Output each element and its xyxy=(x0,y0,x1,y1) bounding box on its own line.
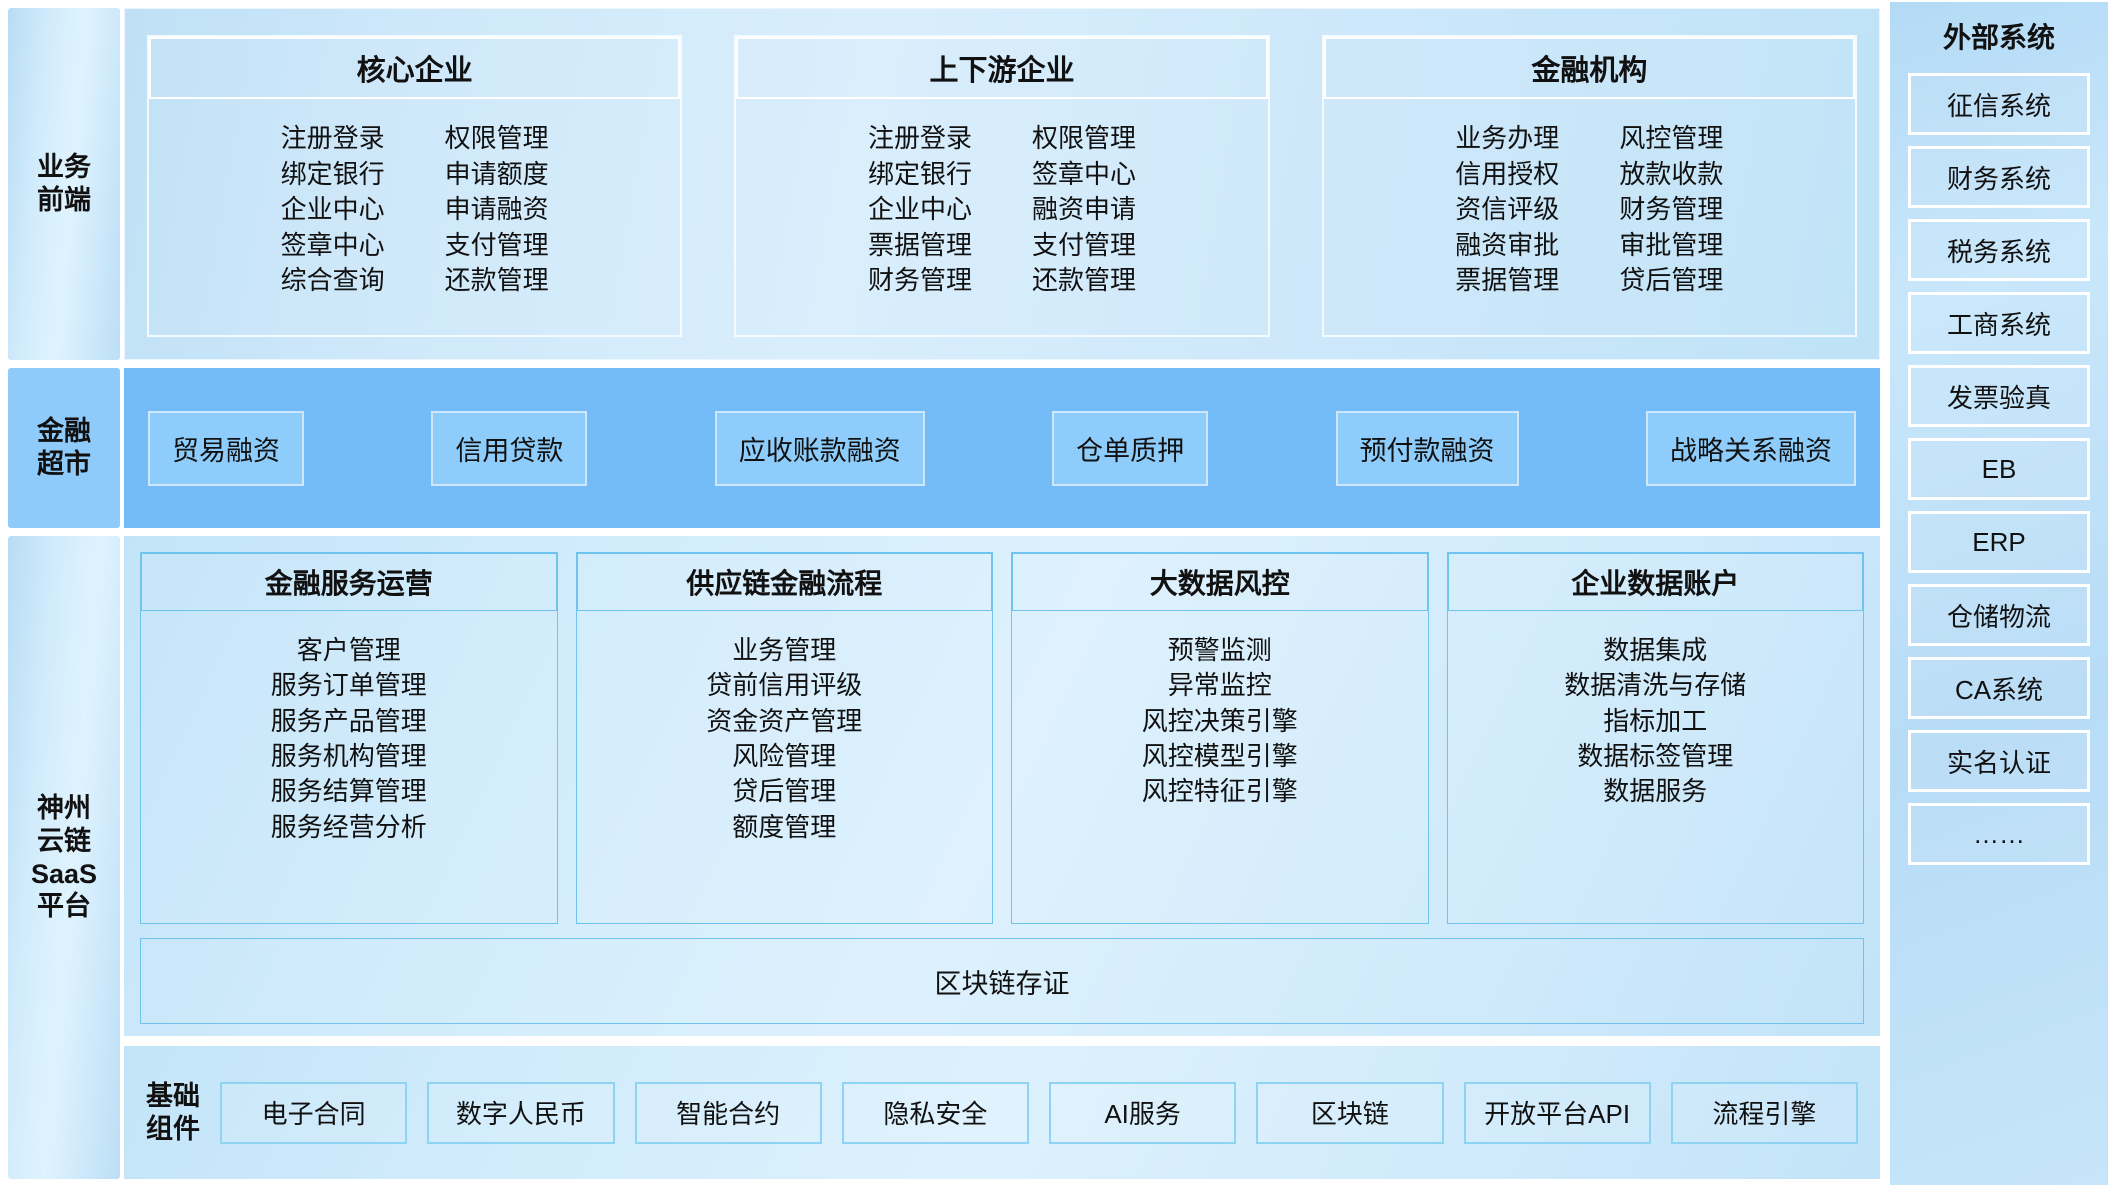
supermarket-chip-warehouse-receipt-pledge[interactable]: 仓单质押 xyxy=(1052,411,1208,486)
module-item[interactable]: 风控模型引擎 xyxy=(1142,739,1298,773)
component-process-engine[interactable]: 流程引擎 xyxy=(1671,1082,1858,1144)
feature-item[interactable]: 还款管理 xyxy=(445,263,549,298)
external-item-eb[interactable]: EB xyxy=(1908,438,2090,500)
rail-saas-platform-label: 神州 云链 SaaS 平台 xyxy=(31,792,97,924)
feature-item[interactable]: 融资申请 xyxy=(1032,192,1136,227)
external-item-ca-system[interactable]: CA系统 xyxy=(1908,657,2090,719)
feature-item[interactable]: 票据管理 xyxy=(868,228,972,263)
base-components-section: 基础 组件 电子合同 数字人民币 智能合约 隐私安全 AI服务 区块链 开放平台… xyxy=(124,1046,1880,1179)
card-financial-institution: 金融机构 业务办理 信用授权 资信评级 融资审批 票据管理 风控管理 放款收款 … xyxy=(1322,35,1857,337)
module-item[interactable]: 风控决策引擎 xyxy=(1142,704,1298,738)
feature-item[interactable]: 支付管理 xyxy=(445,228,549,263)
module-item[interactable]: 异常监控 xyxy=(1168,668,1272,702)
rail-business-frontend-label: 业务 前端 xyxy=(37,151,91,217)
rail-financial-supermarket: 金融 超市 xyxy=(8,368,120,528)
feature-column-right: 风控管理 放款收款 财务管理 审批管理 贷后管理 xyxy=(1619,121,1723,298)
module-item[interactable]: 预警监测 xyxy=(1168,633,1272,667)
module-item[interactable]: 数据标签管理 xyxy=(1577,739,1733,773)
module-enterprise-data-account-title: 企业数据账户 xyxy=(1448,553,1864,611)
module-item[interactable]: 数据清洗与存储 xyxy=(1564,668,1746,702)
external-item-erp[interactable]: ERP xyxy=(1908,511,2090,573)
external-item-business-registration-system[interactable]: 工商系统 xyxy=(1908,292,2090,354)
feature-item[interactable]: 风控管理 xyxy=(1619,121,1723,156)
feature-item[interactable]: 综合查询 xyxy=(281,263,385,298)
external-item-invoice-verification[interactable]: 发票验真 xyxy=(1908,365,2090,427)
feature-item[interactable]: 业务办理 xyxy=(1455,121,1559,156)
component-blockchain[interactable]: 区块链 xyxy=(1256,1082,1443,1144)
module-item[interactable]: 资金资产管理 xyxy=(706,704,862,738)
feature-column-left: 业务办理 信用授权 资信评级 融资审批 票据管理 xyxy=(1455,121,1559,298)
external-systems-panel: 外部系统 征信系统 财务系统 税务系统 工商系统 发票验真 EB ERP 仓储物… xyxy=(1890,2,2108,1185)
card-upstream-downstream-enterprise-title: 上下游企业 xyxy=(736,37,1267,99)
architecture-diagram: 业务 前端 金融 超市 神州 云链 SaaS 平台 核心企业 注册登录 绑定银行… xyxy=(0,0,2114,1187)
feature-item[interactable]: 绑定银行 xyxy=(868,157,972,192)
module-item[interactable]: 服务经营分析 xyxy=(271,810,427,844)
feature-item[interactable]: 申请融资 xyxy=(445,192,549,227)
feature-item[interactable]: 审批管理 xyxy=(1619,228,1723,263)
feature-item[interactable]: 权限管理 xyxy=(1032,121,1136,156)
card-financial-institution-title: 金融机构 xyxy=(1324,37,1855,99)
feature-item[interactable]: 权限管理 xyxy=(445,121,549,156)
feature-item[interactable]: 注册登录 xyxy=(868,121,972,156)
module-item[interactable]: 数据集成 xyxy=(1603,633,1707,667)
module-enterprise-data-account-body: 数据集成 数据清洗与存储 指标加工 数据标签管理 数据服务 xyxy=(1448,611,1864,923)
business-frontend-section: 核心企业 注册登录 绑定银行 企业中心 签章中心 综合查询 权限管理 申请额度 … xyxy=(124,8,1880,360)
feature-item[interactable]: 注册登录 xyxy=(281,121,385,156)
card-financial-institution-body: 业务办理 信用授权 资信评级 融资审批 票据管理 风控管理 放款收款 财务管理 … xyxy=(1324,99,1855,335)
feature-item[interactable]: 信用授权 xyxy=(1455,157,1559,192)
module-financial-service-operation-title: 金融服务运营 xyxy=(141,553,557,611)
component-smart-contract[interactable]: 智能合约 xyxy=(635,1082,822,1144)
module-financial-service-operation-body: 客户管理 服务订单管理 服务产品管理 服务机构管理 服务结算管理 服务经营分析 xyxy=(141,611,557,923)
module-supply-chain-finance-process-body: 业务管理 贷前信用评级 资金资产管理 风险管理 贷后管理 额度管理 xyxy=(577,611,993,923)
module-enterprise-data-account: 企业数据账户 数据集成 数据清洗与存储 指标加工 数据标签管理 数据服务 xyxy=(1447,552,1865,924)
component-open-platform-api[interactable]: 开放平台API xyxy=(1464,1082,1651,1144)
external-item-warehouse-logistics[interactable]: 仓储物流 xyxy=(1908,584,2090,646)
supermarket-chip-credit-loan[interactable]: 信用贷款 xyxy=(431,411,587,486)
card-core-enterprise: 核心企业 注册登录 绑定银行 企业中心 签章中心 综合查询 权限管理 申请额度 … xyxy=(147,35,682,337)
module-financial-service-operation: 金融服务运营 客户管理 服务订单管理 服务产品管理 服务机构管理 服务结算管理 … xyxy=(140,552,558,924)
module-item[interactable]: 服务机构管理 xyxy=(271,739,427,773)
feature-item[interactable]: 签章中心 xyxy=(1032,157,1136,192)
rail-saas-platform: 神州 云链 SaaS 平台 xyxy=(8,536,120,1179)
module-item[interactable]: 客户管理 xyxy=(297,633,401,667)
feature-column-right: 权限管理 申请额度 申请融资 支付管理 还款管理 xyxy=(445,121,549,298)
feature-item[interactable]: 企业中心 xyxy=(868,192,972,227)
financial-supermarket-section: 贸易融资 信用贷款 应收账款融资 仓单质押 预付款融资 战略关系融资 xyxy=(124,368,1880,528)
module-item[interactable]: 服务产品管理 xyxy=(271,704,427,738)
feature-column-right: 权限管理 签章中心 融资申请 支付管理 还款管理 xyxy=(1032,121,1136,298)
component-privacy-security[interactable]: 隐私安全 xyxy=(842,1082,1029,1144)
card-core-enterprise-body: 注册登录 绑定银行 企业中心 签章中心 综合查询 权限管理 申请额度 申请融资 … xyxy=(149,99,680,335)
feature-item[interactable]: 绑定银行 xyxy=(281,157,385,192)
rail-financial-supermarket-label: 金融 超市 xyxy=(37,415,91,481)
feature-item[interactable]: 支付管理 xyxy=(1032,228,1136,263)
module-big-data-risk-control-body: 预警监测 异常监控 风控决策引擎 风控模型引擎 风控特征引擎 xyxy=(1012,611,1428,923)
feature-item[interactable]: 还款管理 xyxy=(1032,263,1136,298)
supermarket-chip-receivables-finance[interactable]: 应收账款融资 xyxy=(715,411,925,486)
module-big-data-risk-control: 大数据风控 预警监测 异常监控 风控决策引擎 风控模型引擎 风控特征引擎 xyxy=(1011,552,1429,924)
saas-platform-section: 金融服务运营 客户管理 服务订单管理 服务产品管理 服务机构管理 服务结算管理 … xyxy=(124,536,1880,1036)
module-item[interactable]: 贷前信用评级 xyxy=(706,668,862,702)
feature-item[interactable]: 财务管理 xyxy=(1619,192,1723,227)
supermarket-chip-strategic-relationship-finance[interactable]: 战略关系融资 xyxy=(1646,411,1856,486)
module-item[interactable]: 服务结算管理 xyxy=(271,774,427,808)
feature-item[interactable]: 企业中心 xyxy=(281,192,385,227)
feature-item[interactable]: 资信评级 xyxy=(1455,192,1559,227)
rail-business-frontend: 业务 前端 xyxy=(8,8,120,360)
module-item[interactable]: 指标加工 xyxy=(1603,704,1707,738)
feature-column-left: 注册登录 绑定银行 企业中心 票据管理 财务管理 xyxy=(868,121,972,298)
component-digital-rmb[interactable]: 数字人民币 xyxy=(427,1082,614,1144)
feature-column-left: 注册登录 绑定银行 企业中心 签章中心 综合查询 xyxy=(281,121,385,298)
external-item-real-name-authentication[interactable]: 实名认证 xyxy=(1908,730,2090,792)
module-supply-chain-finance-process: 供应链金融流程 业务管理 贷前信用评级 资金资产管理 风险管理 贷后管理 额度管… xyxy=(576,552,994,924)
module-item[interactable]: 业务管理 xyxy=(732,633,836,667)
module-item[interactable]: 贷后管理 xyxy=(732,774,836,808)
blockchain-evidence-bar[interactable]: 区块链存证 xyxy=(140,938,1864,1024)
card-upstream-downstream-enterprise-body: 注册登录 绑定银行 企业中心 票据管理 财务管理 权限管理 签章中心 融资申请 … xyxy=(736,99,1267,335)
module-item[interactable]: 额度管理 xyxy=(732,810,836,844)
feature-item[interactable]: 票据管理 xyxy=(1455,263,1559,298)
module-supply-chain-finance-process-title: 供应链金融流程 xyxy=(577,553,993,611)
feature-item[interactable]: 申请额度 xyxy=(445,157,549,192)
external-item-finance-system[interactable]: 财务系统 xyxy=(1908,146,2090,208)
component-ai-service[interactable]: AI服务 xyxy=(1049,1082,1236,1144)
feature-item[interactable]: 签章中心 xyxy=(281,228,385,263)
feature-item[interactable]: 财务管理 xyxy=(868,263,972,298)
external-item-tax-system[interactable]: 税务系统 xyxy=(1908,219,2090,281)
supermarket-chip-prepayment-finance[interactable]: 预付款融资 xyxy=(1336,411,1519,486)
feature-item[interactable]: 放款收款 xyxy=(1619,157,1723,192)
module-item[interactable]: 风控特征引擎 xyxy=(1142,774,1298,808)
module-big-data-risk-control-title: 大数据风控 xyxy=(1012,553,1428,611)
feature-item[interactable]: 融资审批 xyxy=(1455,228,1559,263)
feature-item[interactable]: 贷后管理 xyxy=(1619,263,1723,298)
component-electronic-contract[interactable]: 电子合同 xyxy=(220,1082,407,1144)
module-item[interactable]: 风险管理 xyxy=(732,739,836,773)
module-item[interactable]: 服务订单管理 xyxy=(271,668,427,702)
module-item[interactable]: 数据服务 xyxy=(1603,774,1707,808)
external-item-credit-reporting-system[interactable]: 征信系统 xyxy=(1908,73,2090,135)
base-components-label: 基础 组件 xyxy=(146,1080,200,1145)
external-item-more[interactable]: …… xyxy=(1908,803,2090,865)
external-systems-title: 外部系统 xyxy=(1943,16,2055,56)
card-core-enterprise-title: 核心企业 xyxy=(149,37,680,99)
card-upstream-downstream-enterprise: 上下游企业 注册登录 绑定银行 企业中心 票据管理 财务管理 权限管理 签章中心… xyxy=(734,35,1269,337)
supermarket-chip-trade-finance[interactable]: 贸易融资 xyxy=(148,411,304,486)
